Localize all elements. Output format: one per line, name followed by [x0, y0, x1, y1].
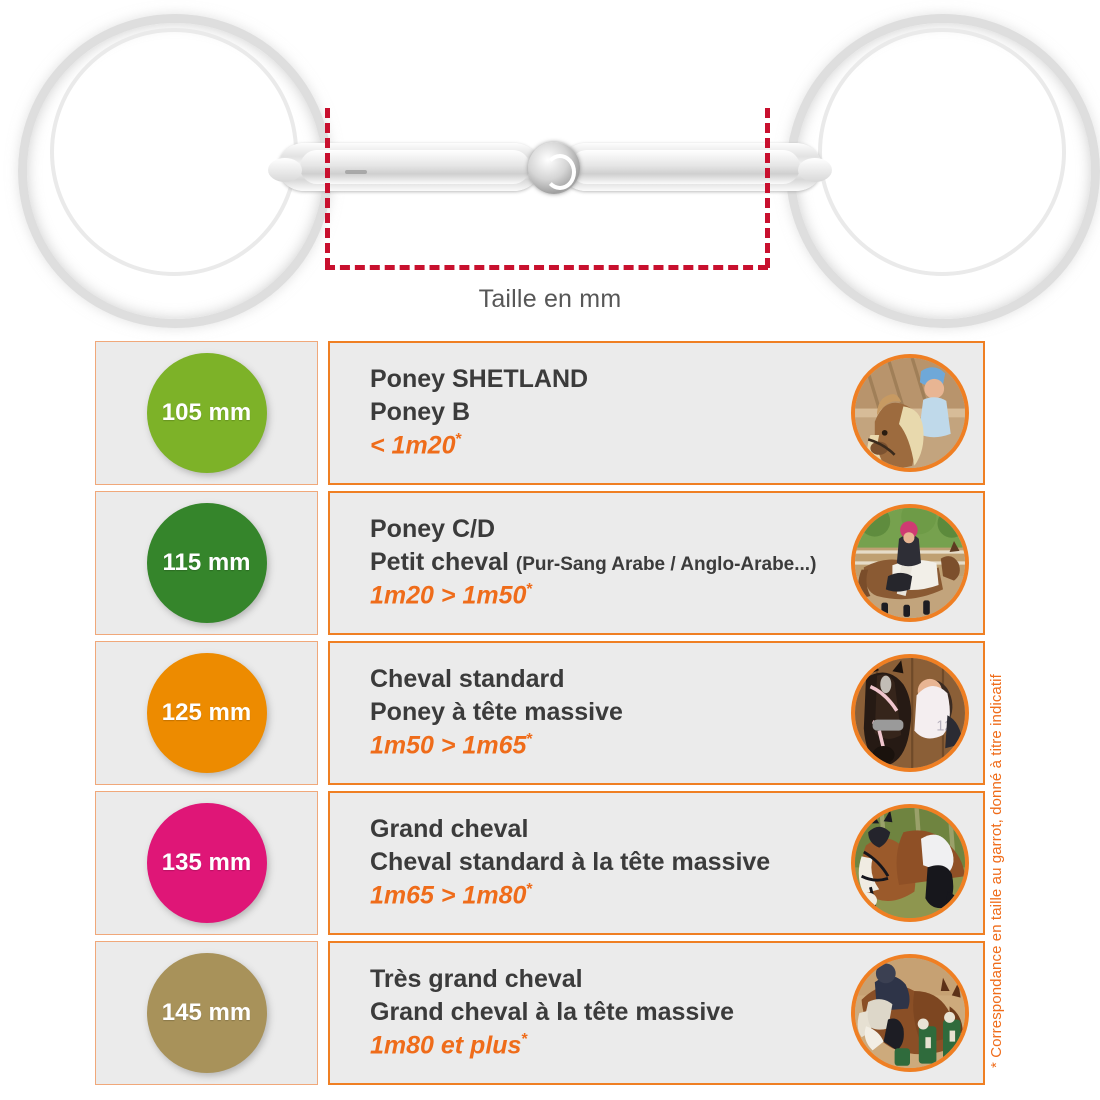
category-line-1: Très grand cheval: [370, 963, 841, 996]
bit-arm-taper-left: [300, 150, 530, 184]
bit-ring-right-inner-icon: [818, 28, 1066, 276]
height-range: 1m50 > 1m65*: [370, 729, 841, 762]
category-line-2: Cheval standard à la tête massive: [370, 846, 841, 879]
height-range: 1m65 > 1m80*: [370, 879, 841, 912]
category-line-2: Poney B: [370, 396, 841, 429]
table-row: 115 mm Poney C/D Petit cheval (Pur-Sang …: [95, 491, 985, 635]
table-row: 145 mm Très grand cheval Grand cheval à …: [95, 941, 985, 1085]
size-bubble: 105 mm: [147, 353, 267, 473]
size-cell: 115 mm: [95, 491, 318, 635]
footnote-star: *: [526, 731, 532, 748]
category-line-2-main: Poney à tête massive: [370, 698, 623, 726]
category-line-2-main: Petit cheval: [370, 548, 509, 576]
category-line-1: Poney C/D: [370, 513, 841, 546]
chestnut-horse-with-ear-bonnet-image: [855, 808, 965, 918]
pony-shetland-with-child-image: [855, 358, 965, 468]
bit-ring-left-inner-icon: [50, 28, 298, 276]
bit-center-joint-icon: [528, 142, 580, 194]
row-photo-thumbnail: [851, 504, 969, 622]
category-line-2-main: Grand cheval à la tête massive: [370, 998, 734, 1026]
footnote-star: *: [526, 581, 532, 598]
row-photo-thumbnail: [851, 954, 969, 1072]
table-row: 135 mm Grand cheval Cheval standard à la…: [95, 791, 985, 935]
description-cell: Poney SHETLAND Poney B < 1m20*: [328, 341, 985, 485]
size-cell: 105 mm: [95, 341, 318, 485]
rider-on-pinto-pony-image: [855, 508, 965, 618]
size-cell: 125 mm: [95, 641, 318, 785]
height-range-value: < 1m20: [370, 432, 456, 460]
size-bubble: 125 mm: [147, 653, 267, 773]
woman-with-dark-bay-horse-image: 12: [855, 658, 965, 768]
height-range: 1m80 et plus*: [370, 1029, 841, 1062]
footnote-star: *: [526, 881, 532, 898]
category-line-1: Cheval standard: [370, 663, 841, 696]
row-photo-thumbnail: 12: [851, 654, 969, 772]
size-bubble: 135 mm: [147, 803, 267, 923]
category-line-2: Grand cheval à la tête massive: [370, 996, 841, 1029]
height-range-value: 1m65 > 1m80: [370, 882, 526, 910]
measurement-caption: Taille en mm: [0, 285, 1100, 314]
bit-engraving-mark: [345, 170, 367, 174]
table-row: 105 mm Poney SHETLAND Poney B < 1m20*: [95, 341, 985, 485]
bit-illustration: Taille en mm: [0, 0, 1100, 338]
table-row: 125 mm Cheval standard Poney à tête mass…: [95, 641, 985, 785]
category-line-2: Petit cheval (Pur-Sang Arabe / Anglo-Ara…: [370, 546, 841, 579]
category-line-2-sub: (Pur-Sang Arabe / Anglo-Arabe...): [516, 554, 817, 575]
height-range: 1m20 > 1m50*: [370, 579, 841, 612]
description-cell: Cheval standard Poney à tête massive 1m5…: [328, 641, 985, 785]
bit-ring-socket-left: [268, 158, 302, 182]
row-photo-thumbnail: [851, 354, 969, 472]
size-bubble: 145 mm: [147, 953, 267, 1073]
footnote-star: *: [521, 1031, 527, 1048]
description-cell: Poney C/D Petit cheval (Pur-Sang Arabe /…: [328, 491, 985, 635]
measurement-bracket-bottom: [325, 265, 768, 270]
measurement-bracket-right: [765, 108, 770, 268]
category-line-2-main: Poney B: [370, 398, 470, 426]
size-guide-table: 105 mm Poney SHETLAND Poney B < 1m20*: [95, 341, 985, 1091]
showjumping-horse-over-fence-image: [855, 958, 965, 1068]
category-line-2-main: Cheval standard à la tête massive: [370, 848, 770, 876]
height-range-value: 1m20 > 1m50: [370, 582, 526, 610]
size-cell: 145 mm: [95, 941, 318, 1085]
vertical-footnote: * Correspondance en taille au garrot, do…: [988, 648, 1005, 1068]
description-cell: Grand cheval Cheval standard à la tête m…: [328, 791, 985, 935]
size-cell: 135 mm: [95, 791, 318, 935]
bit-ring-socket-right: [798, 158, 832, 182]
height-range-value: 1m50 > 1m65: [370, 732, 526, 760]
description-cell: Très grand cheval Grand cheval à la tête…: [328, 941, 985, 1085]
category-line-1: Poney SHETLAND: [370, 363, 841, 396]
size-bubble: 115 mm: [147, 503, 267, 623]
category-line-2: Poney à tête massive: [370, 696, 841, 729]
measurement-bracket-left: [325, 108, 330, 268]
row-photo-thumbnail: [851, 804, 969, 922]
height-range-value: 1m80 et plus: [370, 1032, 521, 1060]
category-line-1: Grand cheval: [370, 813, 841, 846]
footnote-star: *: [456, 431, 462, 448]
height-range: < 1m20*: [370, 429, 841, 462]
